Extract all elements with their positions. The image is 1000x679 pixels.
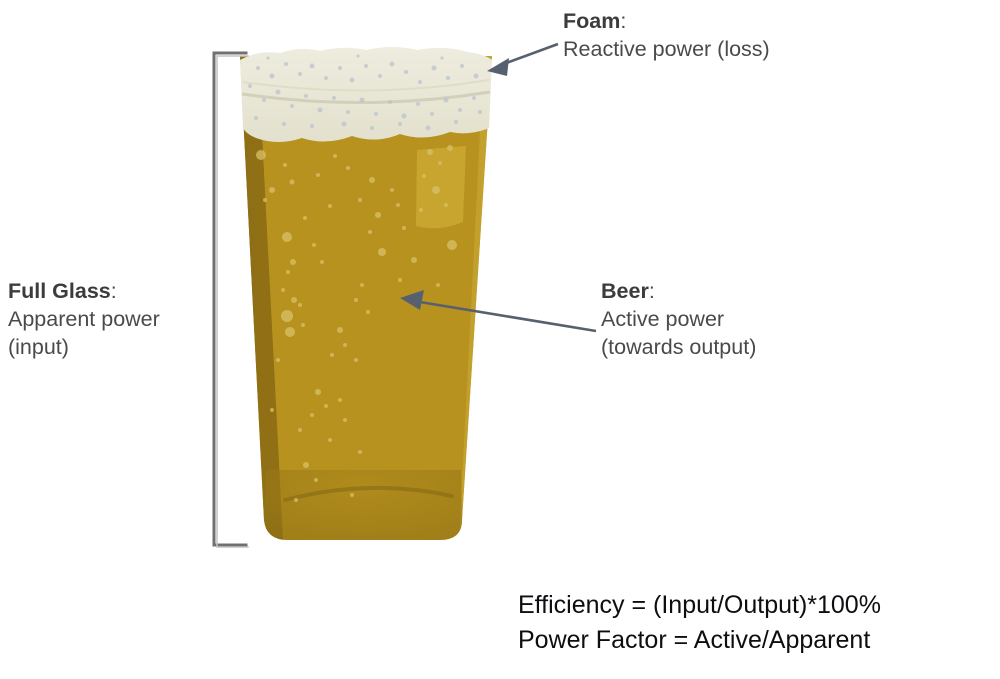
diagram-canvas: Foam: Reactive power (loss) Full Glass: … xyxy=(0,0,1000,679)
annotation-full-glass-term: Full Glass xyxy=(8,279,111,303)
formula-block: Efficiency = (Input/Output)*100% Power F… xyxy=(518,588,881,657)
foam-layer xyxy=(240,47,492,142)
annotation-beer-separator: : xyxy=(649,279,655,303)
annotation-foam-line-1: Reactive power (loss) xyxy=(563,36,770,64)
foam-body xyxy=(240,47,492,142)
annotation-full-glass-separator: : xyxy=(111,279,117,303)
annotation-full-glass-line-2: (input) xyxy=(8,334,160,362)
annotation-beer-term: Beer xyxy=(601,279,649,303)
annotation-foam-heading: Foam: xyxy=(563,8,770,36)
annotation-full-glass: Full Glass: Apparent power (input) xyxy=(8,278,160,362)
formula-efficiency: Efficiency = (Input/Output)*100% xyxy=(518,588,881,623)
annotation-foam: Foam: Reactive power (loss) xyxy=(563,8,770,64)
annotation-beer-heading: Beer: xyxy=(601,278,756,306)
annotation-beer-line-2: (towards output) xyxy=(601,334,756,362)
annotation-foam-separator: : xyxy=(620,9,626,33)
annotation-beer-line-1: Active power xyxy=(601,306,756,334)
annotation-beer: Beer: Active power (towards output) xyxy=(601,278,756,362)
formula-power-factor: Power Factor = Active/Apparent xyxy=(518,623,881,658)
annotation-full-glass-line-1: Apparent power xyxy=(8,306,160,334)
annotation-foam-term: Foam xyxy=(563,9,620,33)
annotation-full-glass-heading: Full Glass: xyxy=(8,278,160,306)
foam-arrow xyxy=(487,44,558,76)
glass-base xyxy=(264,470,462,540)
glass-bracket xyxy=(214,53,248,547)
glass-reflection-patch xyxy=(416,146,466,228)
